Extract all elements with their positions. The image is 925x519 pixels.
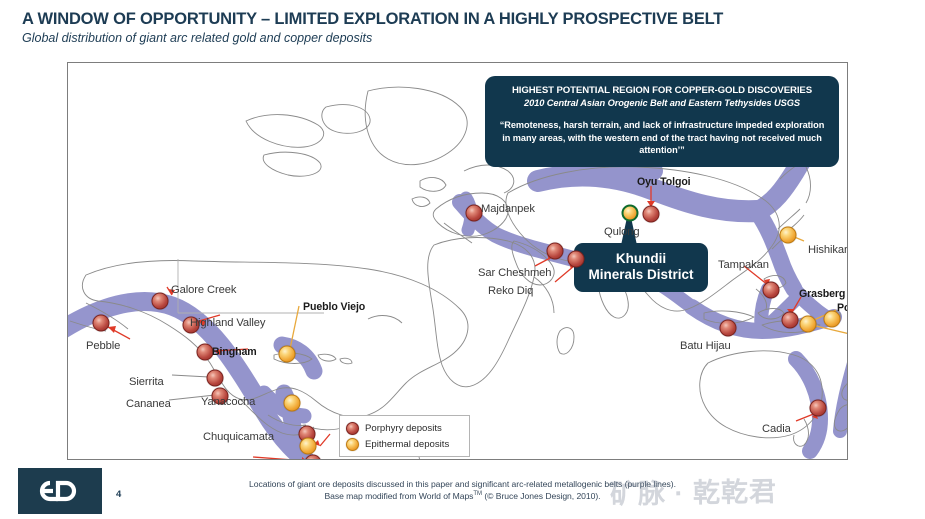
deposit-marker-majdanpek[interactable] xyxy=(466,205,483,222)
deposit-marker-pebble[interactable] xyxy=(93,315,110,332)
deposit-marker-el-indio[interactable] xyxy=(300,438,317,455)
deposit-label-highland-valley: Highland Valley xyxy=(190,317,265,329)
deposit-label-grasberg: Grasberg xyxy=(799,288,845,300)
khundii-line2: Minerals District xyxy=(578,267,704,283)
deposit-label-galore-creek: Galore Creek xyxy=(171,284,236,296)
legend-label-epithermal: Epithermal deposits xyxy=(365,439,449,450)
deposit-marker-bingham[interactable] xyxy=(197,344,214,361)
legend-row-porphyry: Porphyry deposits xyxy=(346,420,463,436)
deposit-label-qulong: Qulong xyxy=(604,226,639,238)
deposit-label-hishikari: Hishikari xyxy=(808,244,848,256)
deposit-label-majdanpek: Majdanpek xyxy=(481,203,535,215)
deposit-label-yanacocha: Yanacocha xyxy=(201,396,255,408)
legend-row-epithermal: Epithermal deposits xyxy=(346,436,463,452)
legend-label-porphyry: Porphyry deposits xyxy=(365,423,442,434)
deposit-marker-lihir[interactable] xyxy=(824,311,841,328)
deposit-label-sar-cheshmeh: Sar Cheshmeh xyxy=(478,267,551,279)
deposit-marker-grasberg[interactable] xyxy=(782,312,799,329)
deposit-marker-batu-hijau[interactable] xyxy=(720,320,737,337)
highest-potential-quote: “Remoteness, harsh terrain, and lack of … xyxy=(495,119,829,157)
deposit-marker-cadia[interactable] xyxy=(810,400,827,417)
deposit-marker-reko-diq[interactable] xyxy=(568,251,585,268)
map-legend: Porphyry deposits Epithermal deposits xyxy=(339,415,470,457)
deposit-marker-yanacocha[interactable] xyxy=(284,395,301,412)
khundii-callout: Khundii Minerals District xyxy=(574,243,708,292)
deposit-label-chuquicamata: Chuquicamata xyxy=(203,431,274,443)
world-map-figure: HIGHEST POTENTIAL REGION FOR COPPER-GOLD… xyxy=(67,62,848,460)
porphyry-deposit-icon xyxy=(346,422,359,435)
highest-potential-callout: HIGHEST POTENTIAL REGION FOR COPPER-GOLD… xyxy=(485,76,839,167)
page-title: A WINDOW OF OPPORTUNITY – LIMITED EXPLOR… xyxy=(22,10,723,29)
deposit-label-reko-diq: Reko Diq xyxy=(488,285,533,297)
deposit-label-el-teniente: El Teniente xyxy=(196,458,251,460)
slide-root: A WINDOW OF OPPORTUNITY – LIMITED EXPLOR… xyxy=(0,0,925,518)
deposit-marker-sierrita[interactable] xyxy=(207,370,224,387)
deposit-marker-pueblo-viejo[interactable] xyxy=(279,346,296,363)
page-subtitle: Global distribution of giant arc related… xyxy=(22,31,372,45)
deposit-label-bingham: Bingham xyxy=(212,346,257,358)
deposit-marker-sar-cheshmeh[interactable] xyxy=(547,243,564,260)
deposit-label-porgera: Porgera xyxy=(837,302,848,314)
watermark-overlay: 矿脉 · 乾乾君 xyxy=(610,465,901,518)
highest-potential-line1: HIGHEST POTENTIAL REGION FOR COPPER-GOLD… xyxy=(495,85,829,97)
footnote-trademark-symbol: TM xyxy=(473,491,482,497)
deposit-label-sierrita: Sierrita xyxy=(129,376,164,388)
deposit-marker-oyu-tolgoi[interactable] xyxy=(643,206,660,223)
deposit-marker-porgera[interactable] xyxy=(800,316,817,333)
deposit-label-oyu-tolgoi: Oyu Tolgoi xyxy=(637,176,691,188)
deposit-marker-hishikari[interactable] xyxy=(780,227,797,244)
deposit-label-pueblo-viejo: Pueblo Viejo xyxy=(303,301,365,313)
highest-potential-line2: 2010 Central Asian Orogenic Belt and Eas… xyxy=(495,97,829,109)
deposit-label-cadia: Cadia xyxy=(762,423,791,435)
deposit-marker-tampakan[interactable] xyxy=(763,282,780,299)
deposit-marker-galore-creek[interactable] xyxy=(152,293,169,310)
epithermal-deposit-icon xyxy=(346,438,359,451)
footnote-line-2-pre: Base map modified from World of Maps xyxy=(324,491,473,501)
deposit-label-pebble: Pebble xyxy=(86,340,120,352)
khundii-line1: Khundii xyxy=(578,251,704,267)
deposit-label-tampakan: Tampakan xyxy=(718,259,769,271)
deposit-label-batu-hijau: Batu Hijau xyxy=(680,340,731,352)
footnote-line-2-post: (© Bruce Jones Design, 2010). xyxy=(482,491,601,501)
deposit-marker-qulong[interactable] xyxy=(622,205,639,222)
deposit-label-cananea: Cananea xyxy=(126,398,171,410)
